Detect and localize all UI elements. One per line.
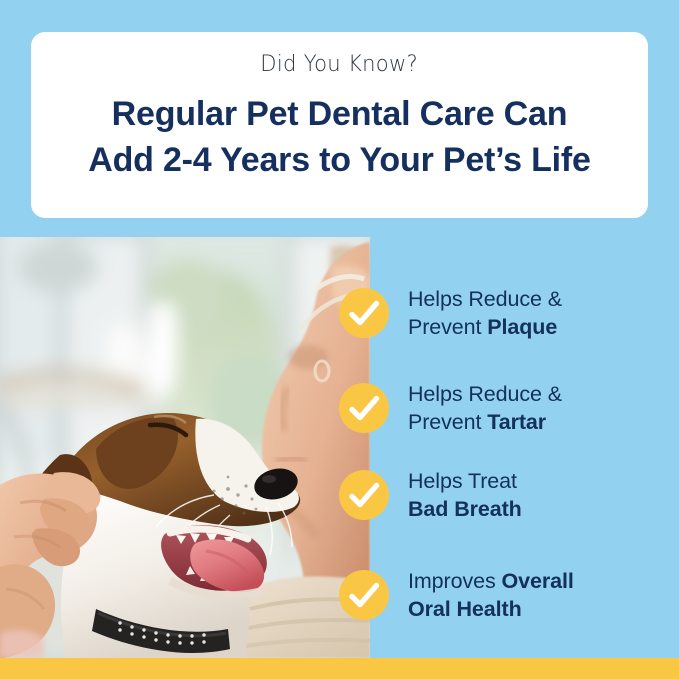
benefit-line-1: Helps Reduce &	[408, 285, 562, 313]
benefit-line-1-plain: Improves	[408, 569, 502, 593]
check-icon	[339, 470, 389, 520]
benefit-line-2-bold: Oral Health	[408, 597, 522, 621]
benefit-line-1: Helps Reduce &	[408, 380, 562, 408]
hero-photo-illustration	[0, 237, 370, 658]
header-card: Did You Know? Regular Pet Dental Care Ca…	[31, 32, 648, 218]
bottom-accent-bar	[0, 658, 679, 679]
benefit-line-2-bold: Bad Breath	[408, 497, 522, 521]
headline-line-2: Add 2-4 Years to Your Pet’s Life	[88, 138, 591, 183]
hero-photo	[0, 237, 370, 658]
benefit-line-1: Improves Overall	[408, 567, 574, 595]
check-icon	[339, 570, 389, 620]
check-icon	[339, 288, 389, 338]
benefit-line-2-plain: Prevent	[408, 315, 487, 339]
benefit-line-2: Bad Breath	[408, 495, 522, 523]
check-icon	[339, 383, 389, 433]
benefit-text: Helps Reduce & Prevent Plaque	[408, 285, 562, 342]
benefit-line-2: Prevent Tartar	[408, 408, 562, 436]
page-title: Regular Pet Dental Care Can Add 2-4 Year…	[88, 92, 591, 182]
benefit-line-2: Prevent Plaque	[408, 313, 562, 341]
benefit-line-2-bold: Plaque	[487, 315, 557, 339]
infographic-root: Did You Know? Regular Pet Dental Care Ca…	[0, 0, 679, 679]
headline-line-1: Regular Pet Dental Care Can	[88, 92, 591, 137]
benefit-line-2-plain: Prevent	[408, 410, 487, 434]
benefit-text: Helps Treat Bad Breath	[408, 467, 522, 524]
list-item: Helps Reduce & Prevent Plaque	[339, 285, 679, 342]
list-item: Helps Reduce & Prevent Tartar	[339, 380, 679, 437]
eyebrow-text: Did You Know?	[261, 52, 419, 78]
list-item: Helps Treat Bad Breath	[339, 467, 679, 524]
benefits-list: Helps Reduce & Prevent Plaque Helps Redu…	[339, 237, 679, 658]
benefit-text: Improves Overall Oral Health	[408, 567, 574, 624]
benefit-line-1-bold: Overall	[502, 569, 574, 593]
benefit-text: Helps Reduce & Prevent Tartar	[408, 380, 562, 437]
benefit-line-2-bold: Tartar	[487, 410, 546, 434]
benefit-line-1: Helps Treat	[408, 467, 522, 495]
benefit-line-2: Oral Health	[408, 595, 574, 623]
list-item: Improves Overall Oral Health	[339, 567, 679, 624]
